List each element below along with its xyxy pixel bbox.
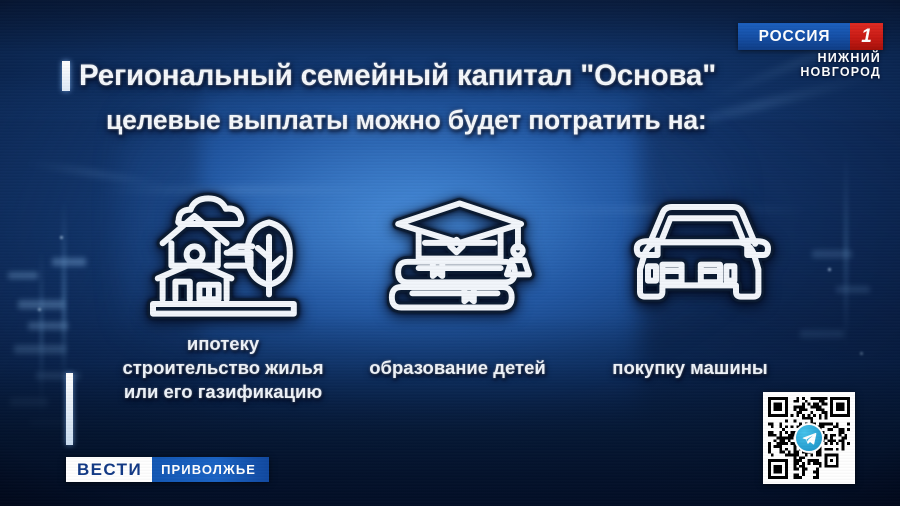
channel-name: РОССИЯ (738, 23, 850, 50)
options-icon-row (0, 178, 900, 328)
program-bug: ВЕСТИ ПРИВОЛЖЬЕ (66, 457, 269, 482)
option-icon-car (608, 178, 783, 328)
option-icon-housing (140, 178, 310, 328)
channel-region: НИЖНИЙ НОВГОРОД (738, 52, 883, 79)
qr-canvas (768, 397, 850, 479)
headline-accent-bar (62, 61, 70, 91)
channel-region-line-2: НОВГОРОД (738, 66, 881, 80)
channel-logo: РОССИЯ 1 НИЖНИЙ НОВГОРОД (738, 23, 883, 79)
option-caption-education: образование детей (345, 356, 570, 380)
car-front-icon (616, 199, 776, 307)
program-bug-title: ВЕСТИ (66, 457, 152, 482)
house-tree-icon (145, 184, 305, 328)
channel-logo-bar: РОССИЯ 1 (738, 23, 883, 50)
tv-broadcast-frame: Региональный семейный капитал "Основа" ц… (0, 0, 900, 506)
channel-region-line-1: НИЖНИЙ (738, 52, 881, 66)
channel-number: 1 (850, 23, 883, 50)
telegram-icon (794, 423, 824, 453)
headline-line-1: Региональный семейный капитал "Основа" (79, 58, 716, 93)
telegram-plane-glyph (802, 431, 817, 446)
option-caption-housing: ипотеку строительство жилья или его гази… (88, 332, 358, 404)
headline-line-2: целевые выплаты можно будет потратить на… (106, 104, 862, 137)
graduation-books-icon (387, 194, 537, 328)
option-icon-education (382, 178, 542, 328)
telegram-qr-code[interactable] (763, 392, 855, 484)
program-bug-region: ПРИВОЛЖЬЕ (152, 457, 269, 482)
option-caption-car: покупку машины (585, 356, 795, 380)
